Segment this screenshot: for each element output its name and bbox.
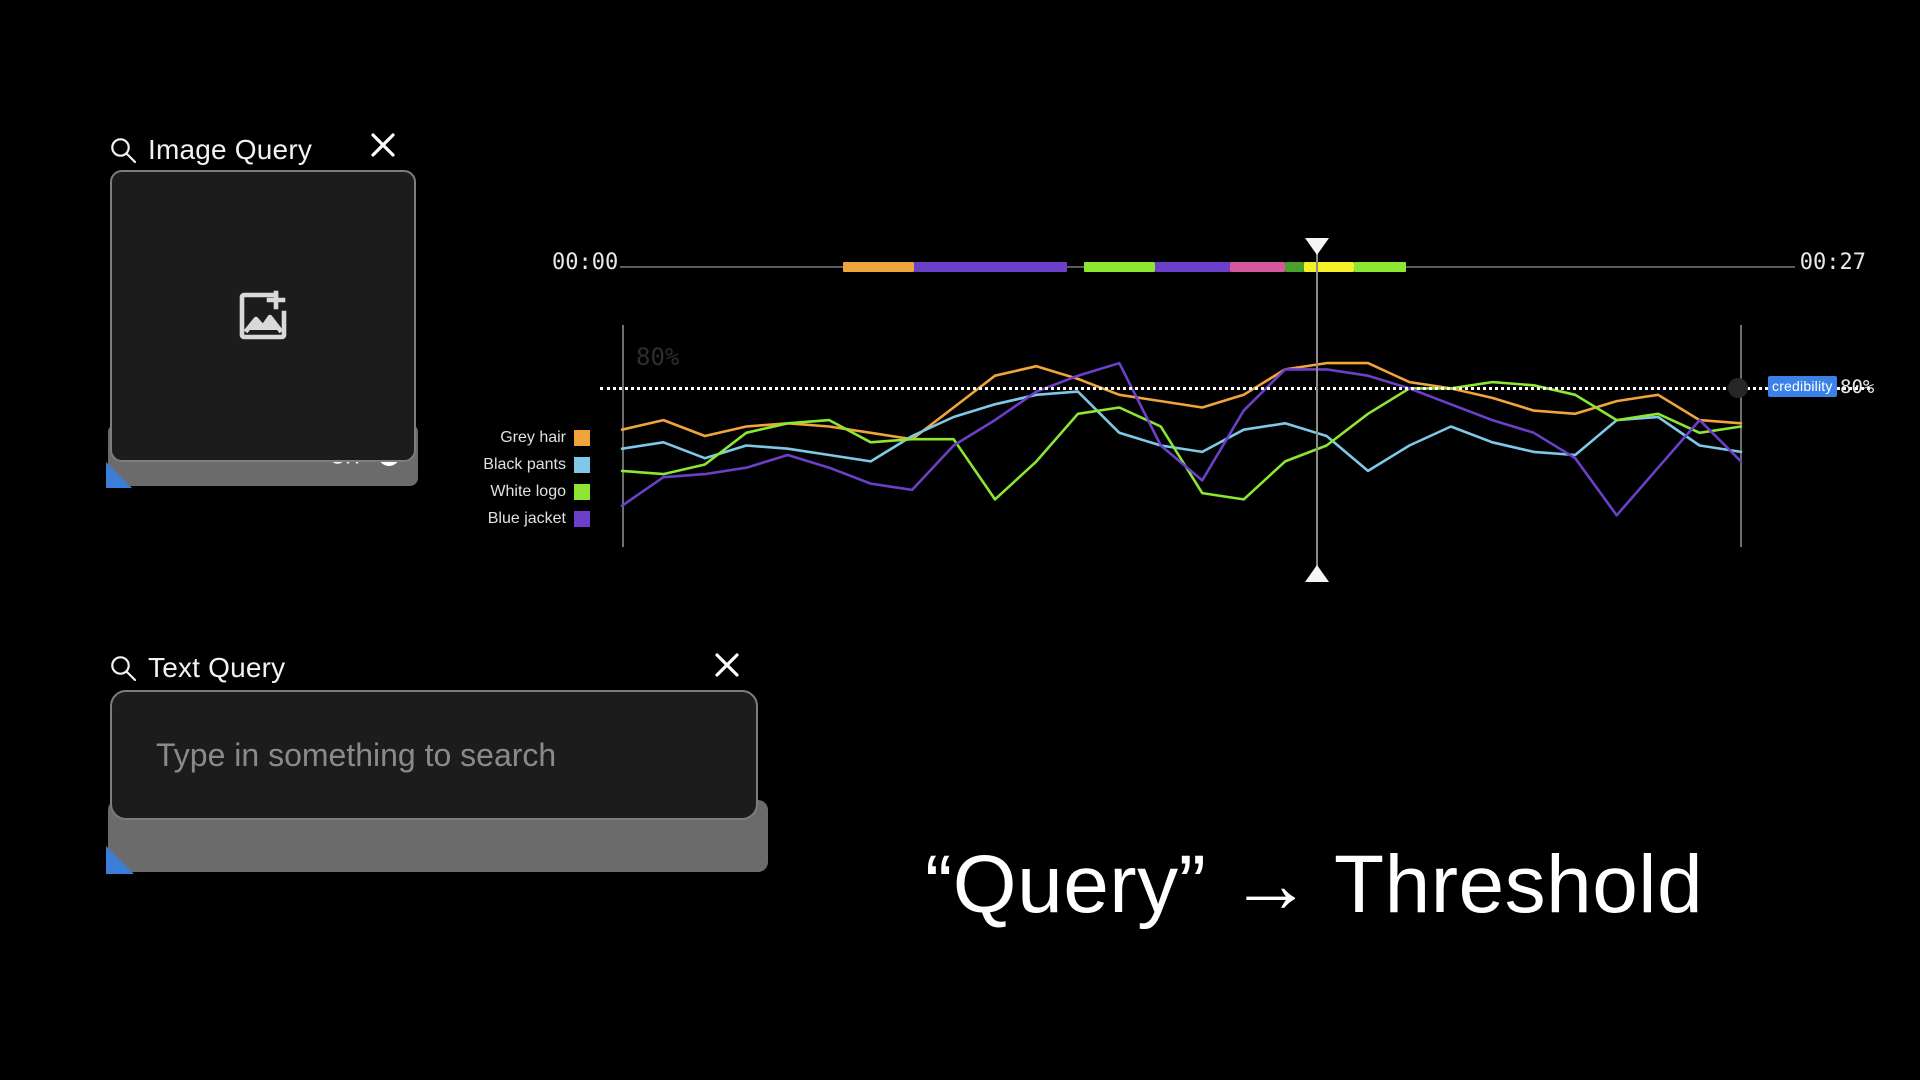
legend-item-label: White logo — [490, 483, 566, 501]
chart-line-blue-jacket — [622, 363, 1741, 515]
image-query-header: Image Query — [108, 134, 312, 166]
close-icon — [366, 128, 400, 162]
chart-line-white-logo — [622, 382, 1741, 499]
legend-item[interactable]: Black pants — [440, 452, 590, 478]
timeline-segment[interactable] — [1354, 262, 1406, 272]
legend-color-swatch — [574, 457, 590, 473]
threshold-chip-label[interactable]: credibility — [1768, 376, 1837, 397]
timeline-start-time: 00:00 — [552, 250, 618, 275]
timeline-end-time: 00:27 — [1800, 250, 1866, 275]
add-image-icon — [232, 285, 294, 347]
legend-item-label: Blue jacket — [488, 510, 566, 528]
playhead-triangle-top-icon — [1305, 238, 1329, 255]
timeline-segment[interactable] — [1285, 262, 1304, 272]
image-dropzone[interactable] — [110, 170, 416, 462]
search-icon — [108, 653, 138, 683]
timeline-segment[interactable] — [1084, 262, 1155, 272]
timeline-segment[interactable] — [1155, 262, 1230, 272]
image-query-close-button[interactable] — [366, 128, 400, 162]
timeline-playhead[interactable] — [1316, 240, 1318, 580]
search-icon — [108, 135, 138, 165]
timeline-segment[interactable] — [1230, 262, 1285, 272]
image-query-panel: Image Query on — [108, 170, 418, 500]
image-query-title: Image Query — [148, 134, 312, 166]
legend-item[interactable]: Blue jacket — [440, 506, 590, 532]
timeline-segment[interactable] — [1304, 262, 1355, 272]
timeline-segment[interactable] — [914, 262, 1067, 272]
close-icon — [710, 648, 744, 682]
corner-tab-icon — [106, 462, 132, 488]
threshold-line[interactable] — [600, 387, 1870, 390]
legend-color-swatch — [574, 511, 590, 527]
legend-item-label: Grey hair — [500, 429, 566, 447]
image-query-card: on — [108, 170, 418, 500]
caption-text: “Query” → Threshold — [925, 838, 1703, 932]
credibility-chart: 80% credibility 80% — [600, 300, 1870, 560]
text-query-header: Text Query — [108, 652, 285, 684]
text-query-card: Type in something to search — [108, 690, 768, 880]
threshold-value-label: 80% — [1840, 376, 1874, 398]
legend-item[interactable]: White logo — [440, 479, 590, 505]
text-query-panel: Text Query Type in something to search — [108, 690, 768, 880]
chart-line-grey-hair — [622, 363, 1741, 439]
app-root: Image Query on — [0, 0, 1920, 1080]
text-query-close-button[interactable] — [710, 648, 744, 682]
timeline-segment[interactable] — [843, 262, 914, 272]
chart-legend: Grey hairBlack pantsWhite logoBlue jacke… — [440, 425, 590, 533]
chart-axis-label-80: 80% — [636, 343, 679, 371]
playhead-triangle-bottom-icon — [1305, 565, 1329, 582]
timeline-track[interactable] — [620, 266, 1795, 268]
corner-tab-icon — [106, 846, 134, 874]
legend-item[interactable]: Grey hair — [440, 425, 590, 451]
legend-color-swatch — [574, 484, 590, 500]
chart-series-svg — [600, 300, 1870, 560]
text-query-title: Text Query — [148, 652, 285, 684]
timeline[interactable]: 00:00 00:27 — [540, 250, 1870, 290]
legend-item-label: Black pants — [483, 456, 566, 474]
text-query-placeholder: Type in something to search — [112, 737, 556, 774]
text-query-input[interactable]: Type in something to search — [110, 690, 758, 820]
legend-color-swatch — [574, 430, 590, 446]
